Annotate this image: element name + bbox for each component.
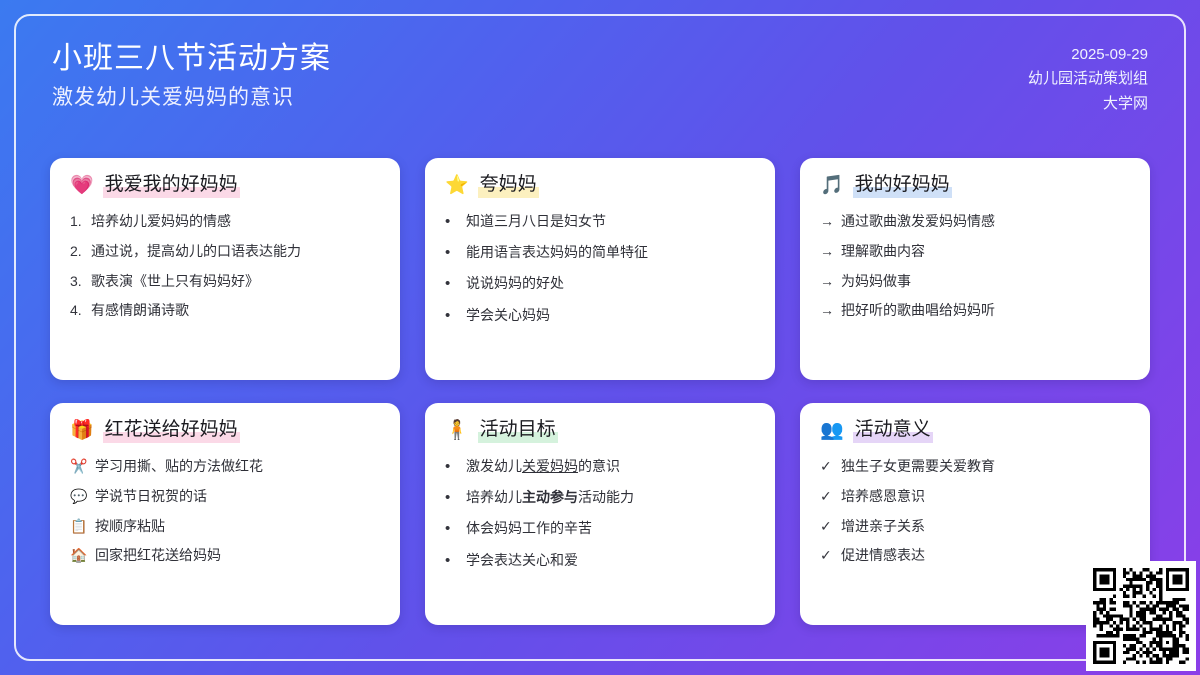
- card-title: 活动意义: [853, 419, 933, 443]
- list-item: •学会关心妈妈: [445, 306, 755, 326]
- arrow-marker: →: [820, 272, 834, 291]
- star-icon: ⭐: [445, 176, 469, 195]
- number-marker: 4.: [70, 301, 84, 320]
- card-title: 夸妈妈: [478, 174, 539, 198]
- list-item: ✓增进亲子关系: [820, 517, 1130, 536]
- list-item-text: 通过说，提高幼儿的口语表达能力: [91, 242, 380, 261]
- card-title: 我的好妈妈: [853, 174, 952, 198]
- header-org: 幼儿园活动策划组: [1028, 67, 1148, 91]
- list-item: ✓独生子女更需要关爱教育: [820, 457, 1130, 476]
- dot-marker: •: [445, 306, 459, 326]
- list-item: •激发幼儿关爱妈妈的意识: [445, 457, 755, 477]
- list-item: 📋按顺序粘贴: [70, 517, 380, 536]
- dot-marker: •: [445, 551, 459, 571]
- card-title: 红花送给好妈妈: [103, 419, 240, 443]
- content-card: 🎁红花送给好妈妈✂️学习用撕、贴的方法做红花💬学说节日祝贺的话📋按顺序粘贴🏠回家…: [50, 403, 400, 625]
- content-card: 🧍活动目标•激发幼儿关爱妈妈的意识•培养幼儿主动参与活动能力•体会妈妈工作的辛苦…: [425, 403, 775, 625]
- people-group-icon: 👥: [820, 421, 844, 440]
- music-note-icon: 🎵: [820, 176, 844, 195]
- list-item: •体会妈妈工作的辛苦: [445, 519, 755, 539]
- slide-header: 小班三八节活动方案 激发幼儿关爱妈妈的意识 2025-09-29 幼儿园活动策划…: [52, 40, 1148, 116]
- list-item-text: 培养幼儿爱妈妈的情感: [91, 212, 380, 231]
- arrow-marker: →: [820, 212, 834, 231]
- list-item: •知道三月八日是妇女节: [445, 212, 755, 232]
- list-item-text: 为妈妈做事: [841, 272, 1130, 291]
- list-item-text: 培养幼儿主动参与活动能力: [466, 488, 755, 507]
- list-item-text: 激发幼儿关爱妈妈的意识: [466, 457, 755, 476]
- page-subtitle: 激发幼儿关爱妈妈的意识: [52, 84, 331, 111]
- list-item-text: 把好听的歌曲唱给妈妈听: [841, 301, 1130, 320]
- list-item-text: 知道三月八日是妇女节: [466, 212, 755, 231]
- page-title: 小班三八节活动方案: [52, 40, 331, 78]
- speech-bubble-icon: 💬: [70, 487, 88, 506]
- list-item: ✓促进情感表达: [820, 546, 1130, 565]
- content-card: 🎵我的好妈妈→通过歌曲激发爱妈妈情感→理解歌曲内容→为妈妈做事→把好听的歌曲唱给…: [800, 158, 1150, 380]
- card-item-list: •激发幼儿关爱妈妈的意识•培养幼儿主动参与活动能力•体会妈妈工作的辛苦•学会表达…: [445, 457, 755, 571]
- content-card: 💗我爱我的好妈妈1.培养幼儿爱妈妈的情感2.通过说，提高幼儿的口语表达能力3.歌…: [50, 158, 400, 380]
- heart-icon: 💗: [70, 176, 94, 195]
- list-item: →通过歌曲激发爱妈妈情感: [820, 212, 1130, 231]
- card-header: 🧍活动目标: [445, 419, 755, 443]
- house-icon: 🏠: [70, 546, 88, 565]
- card-item-list: •知道三月八日是妇女节•能用语言表达妈妈的简单特征•说说妈妈的好处•学会关心妈妈: [445, 212, 755, 326]
- list-item: •学会表达关心和爱: [445, 551, 755, 571]
- number-marker: 1.: [70, 212, 84, 231]
- check-marker: ✓: [820, 546, 834, 565]
- qr-code-image: [1093, 568, 1189, 664]
- card-grid: 💗我爱我的好妈妈1.培养幼儿爱妈妈的情感2.通过说，提高幼儿的口语表达能力3.歌…: [50, 158, 1150, 625]
- list-item: ✂️学习用撕、贴的方法做红花: [70, 457, 380, 476]
- card-title: 我爱我的好妈妈: [103, 174, 240, 198]
- card-item-list: →通过歌曲激发爱妈妈情感→理解歌曲内容→为妈妈做事→把好听的歌曲唱给妈妈听: [820, 212, 1130, 321]
- card-item-list: 1.培养幼儿爱妈妈的情感2.通过说，提高幼儿的口语表达能力3.歌表演《世上只有妈…: [70, 212, 380, 321]
- list-item-text: 理解歌曲内容: [841, 242, 1130, 261]
- list-item: ✓培养感恩意识: [820, 487, 1130, 506]
- card-header: 🎵我的好妈妈: [820, 174, 1130, 198]
- slide-root: 小班三八节活动方案 激发幼儿关爱妈妈的意识 2025-09-29 幼儿园活动策划…: [0, 0, 1200, 675]
- header-site: 大学网: [1028, 92, 1148, 116]
- list-item-text: 按顺序粘贴: [95, 517, 380, 536]
- list-item-text: 增进亲子关系: [841, 517, 1130, 536]
- list-item: →把好听的歌曲唱给妈妈听: [820, 301, 1130, 320]
- list-item-text: 学会表达关心和爱: [466, 551, 755, 570]
- list-item-text: 培养感恩意识: [841, 487, 1130, 506]
- qr-code[interactable]: [1086, 561, 1196, 671]
- number-marker: 3.: [70, 272, 84, 291]
- arrow-marker: →: [820, 301, 834, 320]
- dot-marker: •: [445, 243, 459, 263]
- list-item: 💬学说节日祝贺的话: [70, 487, 380, 506]
- list-item-text: 回家把红花送给妈妈: [95, 546, 380, 565]
- list-item: →理解歌曲内容: [820, 242, 1130, 261]
- list-item-text: 体会妈妈工作的辛苦: [466, 519, 755, 538]
- dot-marker: •: [445, 519, 459, 539]
- dot-marker: •: [445, 488, 459, 508]
- clipboard-icon: 📋: [70, 517, 88, 536]
- check-marker: ✓: [820, 487, 834, 506]
- header-date: 2025-09-29: [1028, 43, 1148, 67]
- list-item-text: 学习用撕、贴的方法做红花: [95, 457, 380, 476]
- list-item-text: 能用语言表达妈妈的简单特征: [466, 243, 755, 262]
- list-item-text: 说说妈妈的好处: [466, 274, 755, 293]
- list-item: 4.有感情朗诵诗歌: [70, 301, 380, 320]
- gift-icon: 🎁: [70, 421, 94, 440]
- card-item-list: ✂️学习用撕、贴的方法做红花💬学说节日祝贺的话📋按顺序粘贴🏠回家把红花送给妈妈: [70, 457, 380, 566]
- card-header: ⭐夸妈妈: [445, 174, 755, 198]
- list-item-text: 有感情朗诵诗歌: [91, 301, 380, 320]
- dot-marker: •: [445, 274, 459, 294]
- header-meta: 2025-09-29 幼儿园活动策划组 大学网: [1028, 40, 1148, 116]
- list-item-text: 学说节日祝贺的话: [95, 487, 380, 506]
- list-item-text: 歌表演《世上只有妈妈好》: [91, 272, 380, 291]
- list-item: →为妈妈做事: [820, 272, 1130, 291]
- dot-marker: •: [445, 212, 459, 232]
- scissors-icon: ✂️: [70, 457, 88, 476]
- card-header: 🎁红花送给好妈妈: [70, 419, 380, 443]
- header-left: 小班三八节活动方案 激发幼儿关爱妈妈的意识: [52, 40, 331, 111]
- card-title: 活动目标: [478, 419, 558, 443]
- card-header: 💗我爱我的好妈妈: [70, 174, 380, 198]
- list-item: 🏠回家把红花送给妈妈: [70, 546, 380, 565]
- list-item: •培养幼儿主动参与活动能力: [445, 488, 755, 508]
- list-item-text: 独生子女更需要关爱教育: [841, 457, 1130, 476]
- check-marker: ✓: [820, 457, 834, 476]
- list-item: 2.通过说，提高幼儿的口语表达能力: [70, 242, 380, 261]
- list-item: 1.培养幼儿爱妈妈的情感: [70, 212, 380, 231]
- content-card: ⭐夸妈妈•知道三月八日是妇女节•能用语言表达妈妈的简单特征•说说妈妈的好处•学会…: [425, 158, 775, 380]
- person-icon: 🧍: [445, 421, 469, 440]
- list-item-text: 通过歌曲激发爱妈妈情感: [841, 212, 1130, 231]
- list-item-text: 学会关心妈妈: [466, 306, 755, 325]
- card-header: 👥活动意义: [820, 419, 1130, 443]
- arrow-marker: →: [820, 242, 834, 261]
- list-item: •说说妈妈的好处: [445, 274, 755, 294]
- list-item: •能用语言表达妈妈的简单特征: [445, 243, 755, 263]
- dot-marker: •: [445, 457, 459, 477]
- card-item-list: ✓独生子女更需要关爱教育✓培养感恩意识✓增进亲子关系✓促进情感表达: [820, 457, 1130, 566]
- number-marker: 2.: [70, 242, 84, 261]
- check-marker: ✓: [820, 517, 834, 536]
- list-item: 3.歌表演《世上只有妈妈好》: [70, 272, 380, 291]
